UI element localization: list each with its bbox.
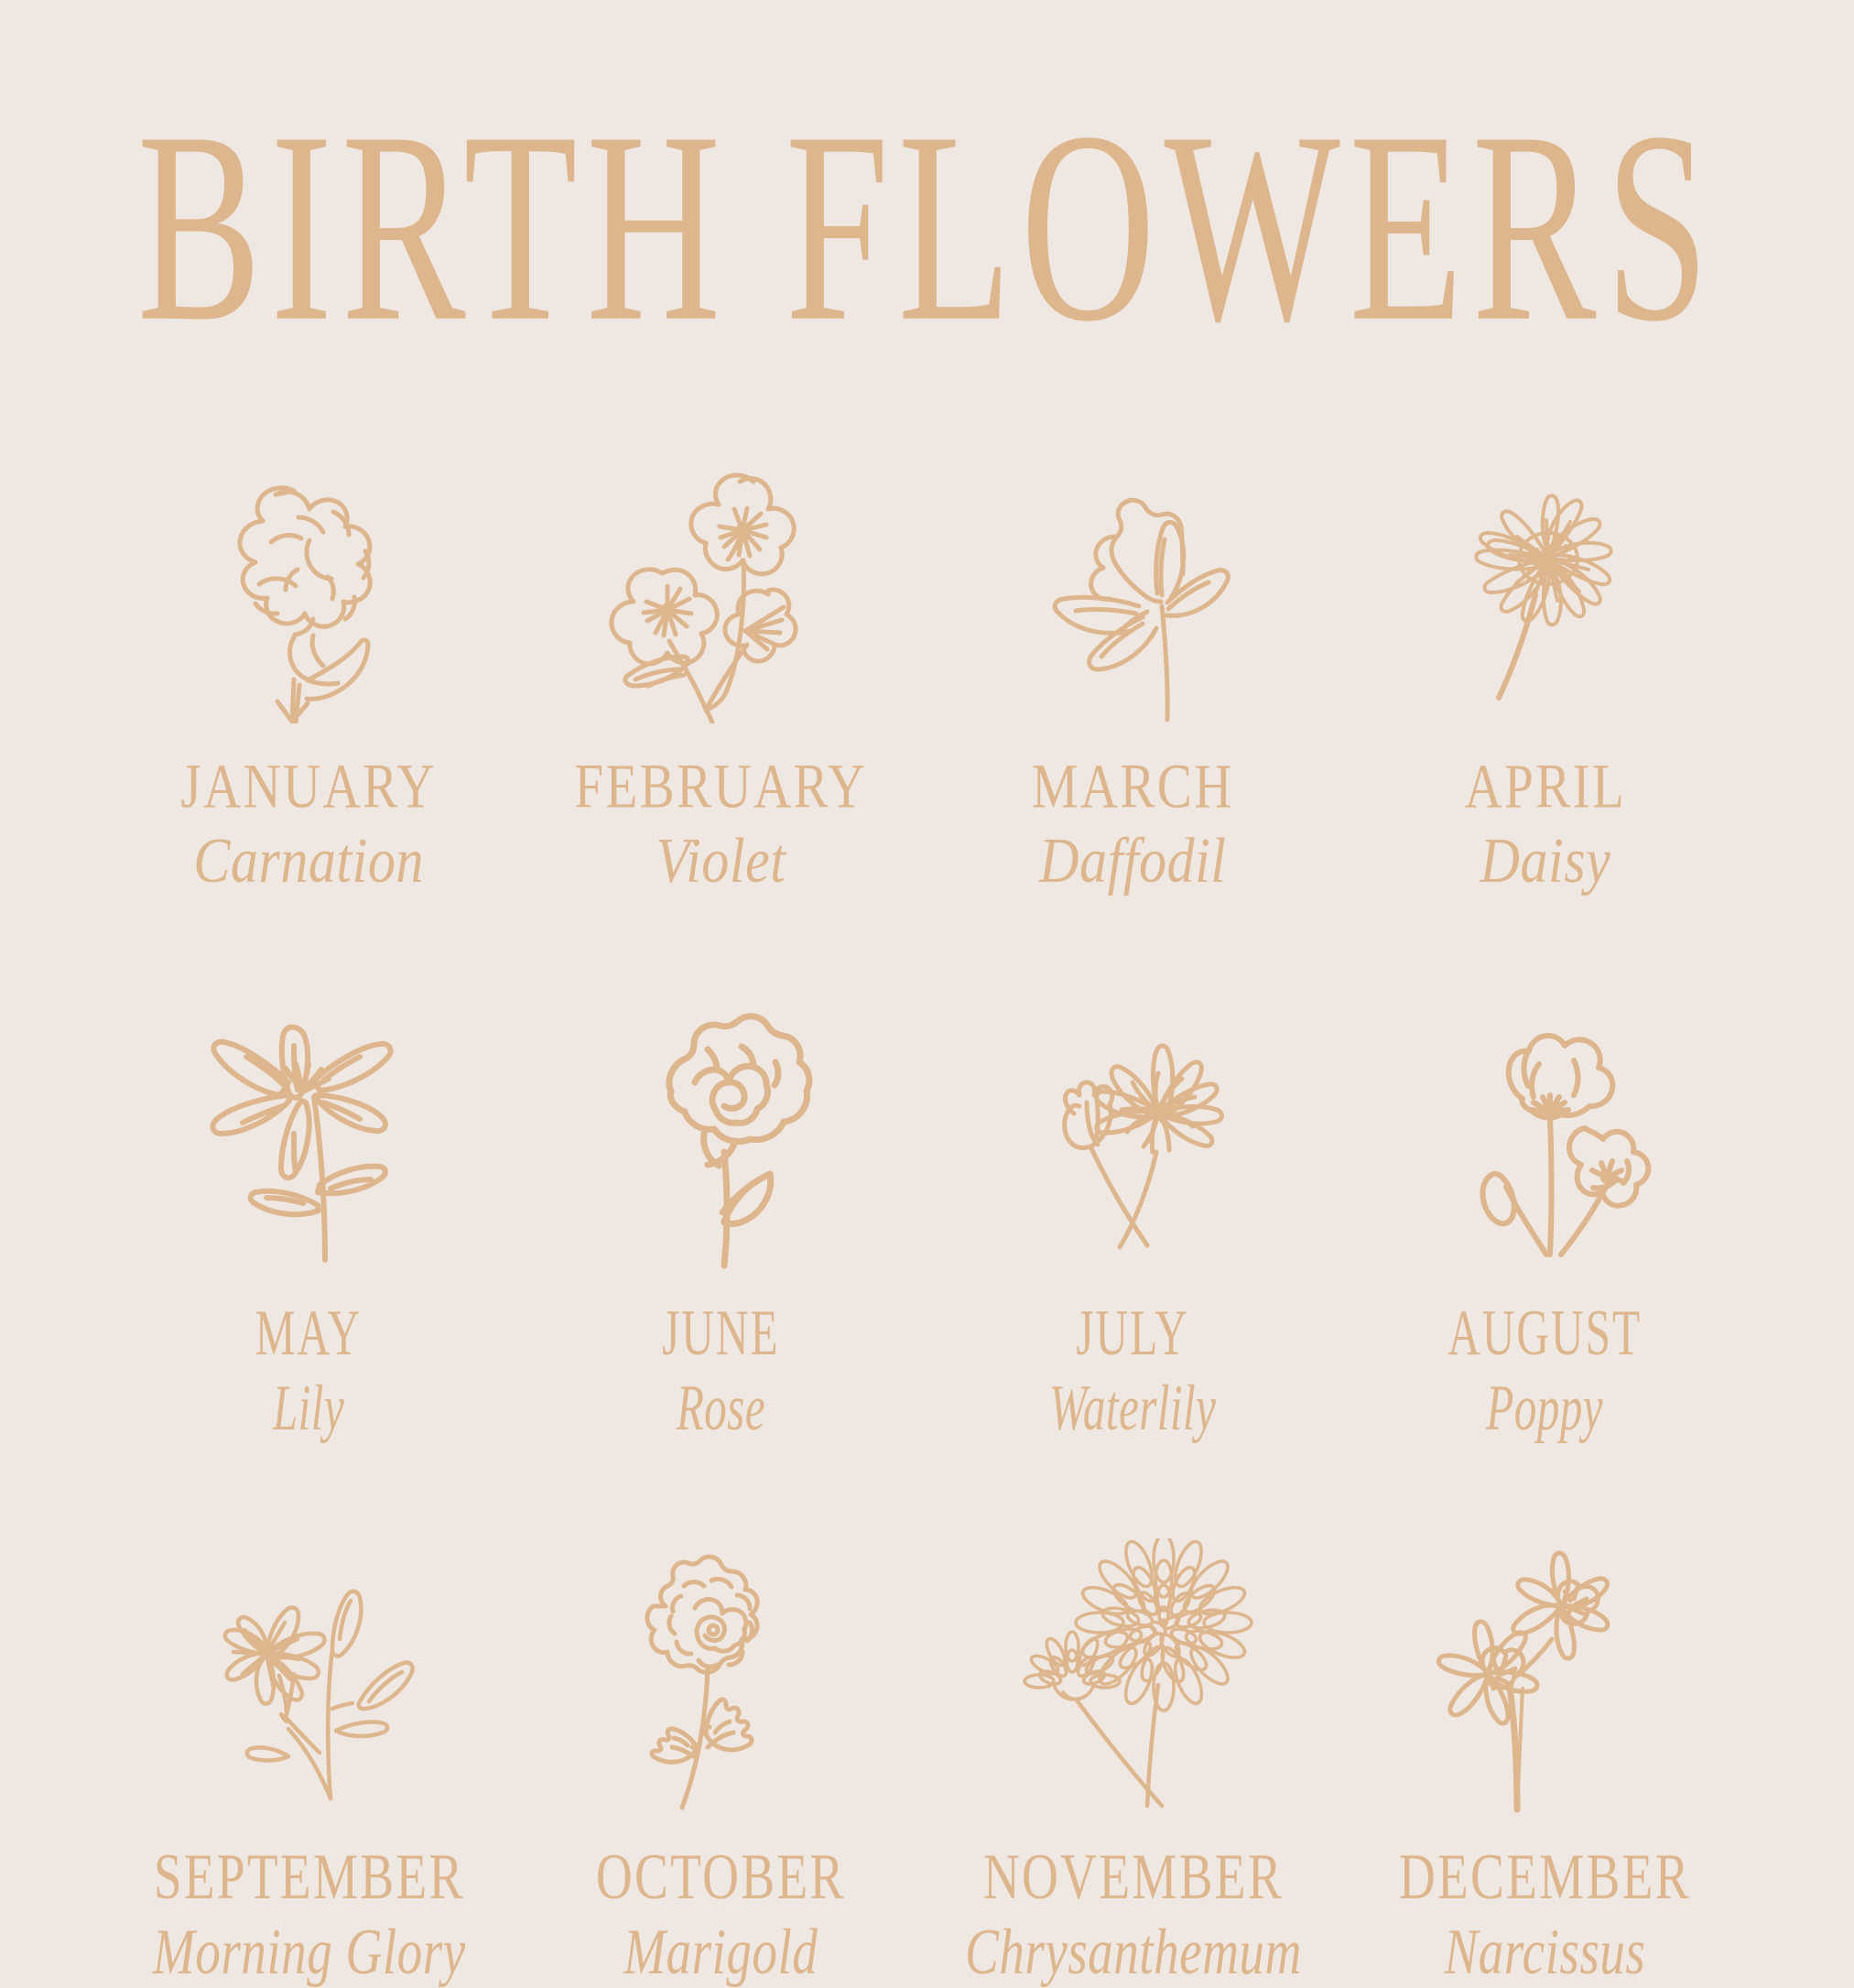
flower-labels: JANUARY Carnation [174, 755, 443, 886]
morning-glory-icon [172, 1538, 447, 1813]
waterlily-icon [996, 994, 1271, 1269]
flower-name-label: Lily [255, 1375, 362, 1440]
flower-cell-october: OCTOBER Marigold [515, 1538, 927, 1974]
marigold-icon [584, 1538, 859, 1813]
row-spacer [515, 1430, 927, 1538]
flower-labels: JULY Waterlily [1031, 1300, 1234, 1430]
flower-cell-january: JANUARY Carnation [103, 449, 515, 886]
row-spacer [1339, 1430, 1751, 1538]
flower-name-label: Daisy [1462, 830, 1627, 893]
flower-labels: MARCH Daffodil [1026, 755, 1240, 886]
carnation-icon [172, 449, 447, 723]
birth-flowers-poster: BIRTH FLOWERS [0, 0, 1854, 1854]
row-spacer [103, 1430, 515, 1538]
violet-icon [584, 449, 859, 723]
flower-labels: FEBRUARY Violet [567, 755, 875, 886]
daffodil-icon [996, 449, 1271, 723]
flower-name-label: Rose [662, 1375, 779, 1440]
flower-cell-june: JUNE Rose [515, 994, 927, 1430]
flower-cell-march: MARCH Daffodil [927, 449, 1339, 886]
flower-cell-february: FEBRUARY Violet [515, 449, 927, 886]
flower-name-label: Chrysanthemum [965, 1919, 1302, 1984]
flower-labels: AUGUST Poppy [1426, 1300, 1663, 1430]
flower-labels: SEPTEMBER Morning Glory [139, 1844, 479, 1974]
row-spacer [515, 886, 927, 994]
flower-name-label: Narcissus [1399, 1919, 1691, 1984]
flower-name-label: Marigold [596, 1919, 846, 1984]
month-label: JUNE [662, 1300, 779, 1365]
row-spacer [927, 886, 1339, 994]
flower-labels: JUNE Rose [649, 1300, 793, 1430]
flower-labels: APRIL Daisy [1460, 755, 1631, 886]
month-label: AUGUST [1448, 1300, 1643, 1365]
flower-labels: DECEMBER Narcissus [1386, 1844, 1704, 1974]
month-label: APRIL [1464, 755, 1626, 818]
daisy-icon [1408, 449, 1683, 723]
row-spacer [1339, 886, 1751, 994]
poppy-icon [1408, 994, 1683, 1269]
page-title: BIRTH FLOWERS [136, 103, 1718, 353]
month-label: MARCH [1032, 755, 1234, 818]
flower-labels: NOVEMBER Chrysanthemum [950, 1844, 1317, 1974]
row-spacer [103, 886, 515, 994]
flower-name-label: Daffodil [1030, 830, 1237, 893]
flower-cell-december: DECEMBER Narcissus [1339, 1538, 1751, 1974]
lily-icon [172, 994, 447, 1269]
month-label: JULY [1049, 1300, 1216, 1365]
flower-labels: MAY Lily [244, 1300, 374, 1430]
row-spacer [927, 1430, 1339, 1538]
flower-cell-september: SEPTEMBER Morning Glory [103, 1538, 515, 1974]
month-label: MAY [255, 1300, 362, 1365]
flower-cell-may: MAY Lily [103, 994, 515, 1430]
flower-name-label: Carnation [179, 830, 439, 893]
flower-cell-april: APRIL Daisy [1339, 449, 1751, 886]
flower-name-label: Waterlily [1049, 1375, 1216, 1440]
flower-grid: JANUARY Carnation [103, 449, 1751, 1974]
flower-name-label: Violet [571, 830, 871, 893]
flower-cell-november: NOVEMBER Chrysanthemum [927, 1538, 1339, 1974]
flower-name-label: Poppy [1448, 1375, 1643, 1440]
flower-cell-july: JULY Waterlily [927, 994, 1339, 1430]
flower-labels: OCTOBER Marigold [585, 1844, 856, 1974]
month-label: JANUARY [181, 755, 438, 818]
chrysanthemum-icon [996, 1538, 1271, 1813]
rose-icon [584, 994, 859, 1269]
month-label: FEBRUARY [575, 755, 868, 818]
flower-name-label: Morning Glory [153, 1919, 466, 1984]
narcissus-icon [1408, 1538, 1683, 1813]
flower-cell-august: AUGUST Poppy [1339, 994, 1751, 1430]
